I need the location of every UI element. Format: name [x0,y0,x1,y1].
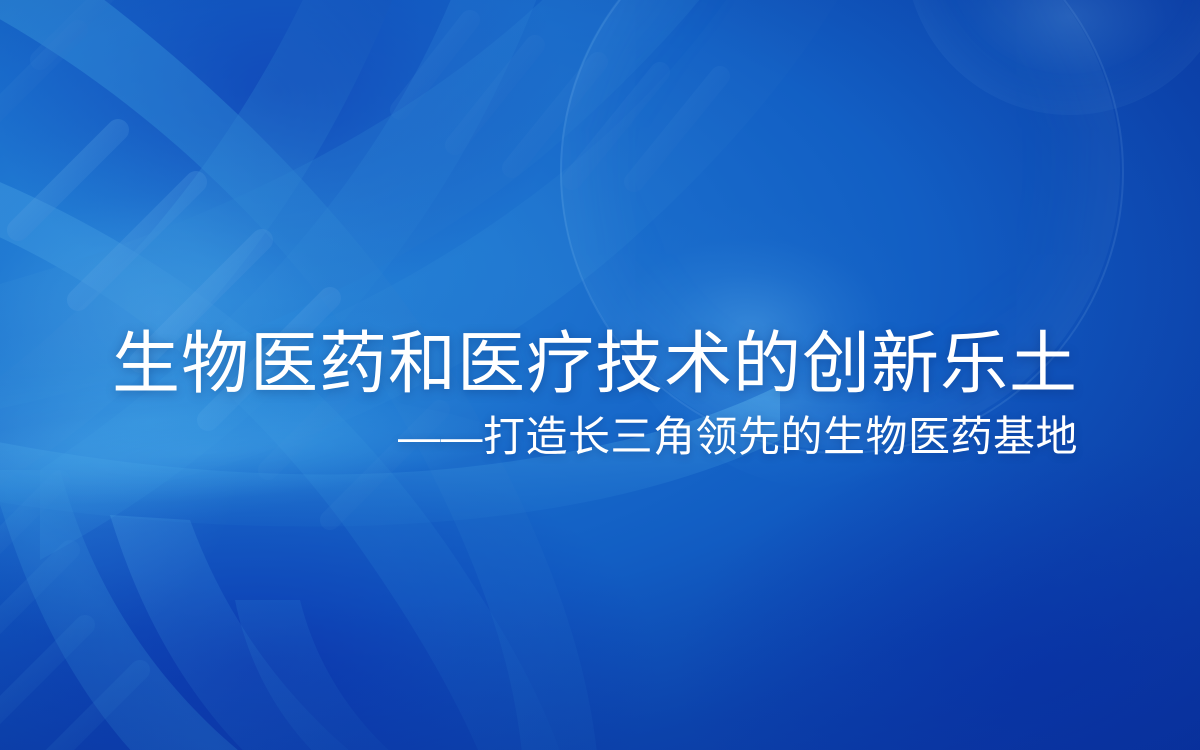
slide-title: 生物医药和医疗技术的创新乐土 [0,330,1078,398]
slide-subtitle: ——打造长三角领先的生物医药基地 [0,416,1078,458]
presentation-slide: 生物医药和医疗技术的创新乐土 ——打造长三角领先的生物医药基地 [0,0,1200,750]
slide-text-block: 生物医药和医疗技术的创新乐土 ——打造长三角领先的生物医药基地 [0,330,1078,458]
